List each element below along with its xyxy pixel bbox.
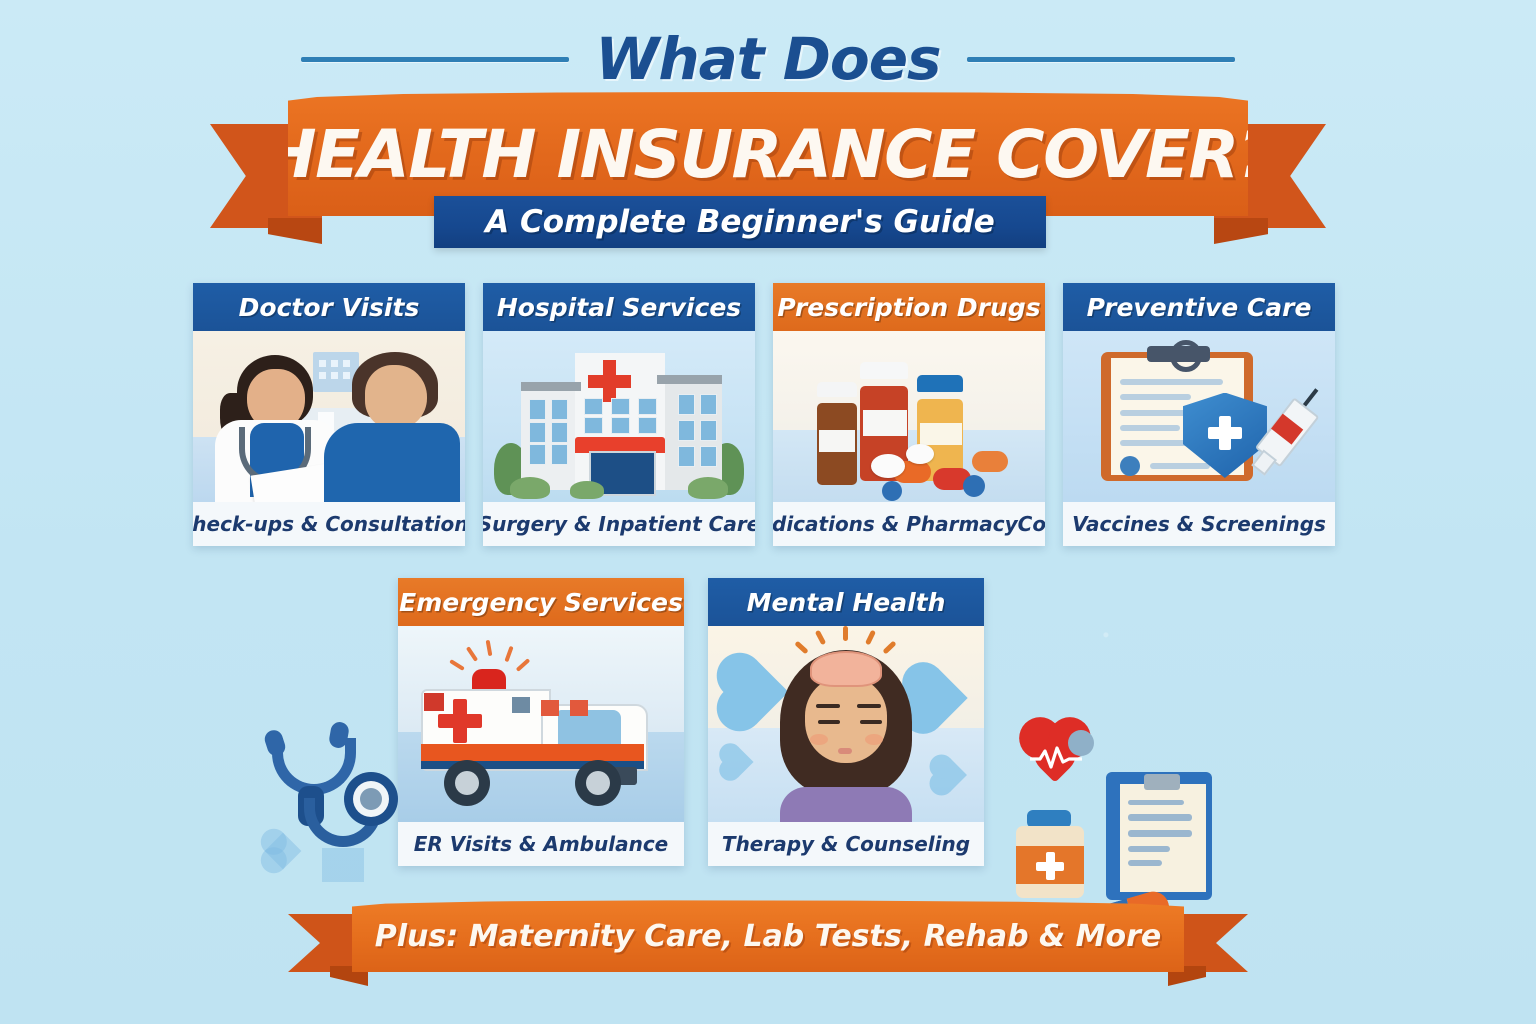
roof-icon (657, 375, 722, 384)
clipboard-clamp-icon (1147, 346, 1210, 361)
window-icon (700, 394, 717, 415)
text-line-icon (1128, 800, 1184, 805)
tablet-icon (871, 454, 905, 478)
cheek-blush-icon (810, 734, 828, 745)
doctor-and-patient-illustration (193, 331, 465, 502)
bush-icon (510, 477, 550, 499)
footer-banner: Plus: Maternity Care, Lab Tests, Rehab &… (0, 900, 1536, 996)
spark-icon (843, 626, 848, 641)
subtitle-band: A Complete Beginner's Guide (434, 196, 1046, 248)
card-title: Mental Health (747, 588, 946, 617)
card-title: Prescription Drugs (777, 293, 1040, 322)
window-icon (678, 420, 695, 441)
card-header: Preventive Care (1063, 283, 1335, 331)
header-eyebrow: What Does (595, 25, 940, 93)
closed-eye-icon (818, 720, 840, 724)
bush-icon (688, 477, 728, 499)
eyebrow-icon (816, 704, 840, 708)
card-hospital-services[interactable]: Hospital Services (483, 283, 755, 546)
clipboard-clamp-icon (1144, 774, 1180, 790)
siren-ray-icon (465, 646, 477, 662)
card-emergency-services[interactable]: Emergency Services ER Visits & Ambulance (398, 578, 684, 866)
cross-glyph-icon (1208, 416, 1242, 450)
card-caption: ER Visits & Ambulance (414, 832, 668, 856)
ambulance-illustration (398, 626, 684, 822)
card-doctor-visits[interactable]: Doctor Visits Check-ups & Consultations (193, 283, 465, 546)
roof-icon (521, 382, 581, 391)
siren-ray-icon (485, 639, 492, 655)
window-icon (529, 444, 546, 465)
card-caption: Vaccines & Screenings (1072, 512, 1326, 536)
medicine-bottle-icon (1014, 810, 1088, 902)
card-caption-bar: Surgery & Inpatient Care (483, 502, 755, 546)
window-icon (529, 422, 546, 443)
bottle-label-icon (863, 410, 907, 436)
card-prescription-drugs[interactable]: Prescription Drugs Medications & Pharmac… (773, 283, 1045, 546)
brain-icon (810, 651, 882, 686)
closed-eye-icon (860, 720, 882, 724)
card-caption-bar: Therapy & Counseling (708, 822, 984, 866)
capsule-pill-icon (972, 451, 1008, 472)
spark-icon (883, 640, 897, 654)
text-line-icon (1120, 394, 1191, 400)
card-header: Prescription Drugs (773, 283, 1045, 331)
text-line-icon (1120, 425, 1180, 431)
card-caption-bar: Check-ups & Consultations (193, 502, 465, 546)
rule-left-icon (301, 57, 569, 62)
patient-face-icon (365, 365, 427, 429)
hospital-building-illustration (483, 331, 755, 502)
footer-banner-text: Plus: Maternity Care, Lab Tests, Rehab &… (375, 919, 1162, 954)
window-icon (584, 398, 603, 415)
text-line-icon (1120, 379, 1223, 385)
stethoscope-bell-icon (344, 772, 398, 826)
card-header: Mental Health (708, 578, 984, 626)
bottle-cap-icon (860, 362, 908, 379)
heart-icon (933, 758, 967, 792)
spark-icon (865, 630, 876, 646)
heart-icon (723, 660, 788, 725)
ribbon-fold-right-icon (1214, 218, 1268, 244)
bottle-label-icon (920, 423, 962, 445)
mouth-icon (838, 748, 852, 754)
spark-icon (815, 630, 826, 646)
woman-with-brain-and-hearts-illustration (708, 626, 984, 822)
card-caption: Check-ups & Consultations (193, 512, 465, 536)
cheek-blush-icon (865, 734, 883, 745)
window-icon (638, 398, 657, 415)
card-caption: Surgery & Inpatient Care (483, 512, 755, 536)
card-title: Doctor Visits (239, 293, 420, 322)
tablet-icon (906, 444, 934, 464)
header-eyebrow-row: What Does (0, 22, 1536, 96)
rule-right-icon (967, 57, 1235, 62)
ambulance-stripe-icon (421, 744, 644, 762)
card-title: Preventive Care (1087, 293, 1312, 322)
ambulance-window-icon (558, 710, 621, 743)
banner-body: Plus: Maternity Care, Lab Tests, Rehab &… (352, 900, 1184, 972)
window-icon (529, 399, 546, 420)
red-cross-icon (438, 699, 482, 743)
bullet-dot-icon (1120, 456, 1140, 476)
bush-icon (570, 481, 604, 499)
round-pill-icon (882, 481, 902, 501)
text-line-icon (1150, 463, 1210, 469)
marker-square-icon (512, 697, 530, 713)
window-icon (700, 446, 717, 467)
text-line-icon (1128, 830, 1192, 837)
window-icon (638, 417, 657, 434)
card-caption: Therapy & Counseling (722, 832, 970, 856)
ribbon-fold-left-icon (268, 218, 322, 244)
bullet-dot-icon (1068, 730, 1094, 756)
page-subtitle: A Complete Beginner's Guide (485, 204, 995, 240)
siren-ray-icon (516, 659, 531, 673)
window-icon (611, 417, 630, 434)
window-icon (700, 420, 717, 441)
card-caption-bar: Vaccines & Screenings (1063, 502, 1335, 546)
text-line-icon (1128, 860, 1162, 866)
shirt-icon (780, 787, 912, 822)
card-caption-bar: Medications & PharmacyCosts (773, 502, 1045, 546)
marker-square-icon (570, 700, 588, 716)
heart-icon (908, 668, 967, 727)
siren-ray-icon (504, 645, 513, 661)
round-pill-icon (963, 475, 985, 497)
marker-square-icon (424, 693, 444, 711)
card-header: Emergency Services (398, 578, 684, 626)
window-icon (611, 398, 630, 415)
window-icon (584, 417, 603, 434)
card-caption: Medications & PharmacyCosts (773, 512, 1045, 536)
card-caption-bar: ER Visits & Ambulance (398, 822, 684, 866)
window-icon (678, 394, 695, 415)
eyebrow-icon (857, 704, 881, 708)
cross-glyph-icon (1036, 852, 1064, 880)
heart-icon (723, 747, 754, 778)
siren-ray-icon (449, 659, 465, 671)
clipboard-shield-syringe-illustration (1063, 331, 1335, 502)
text-line-icon (1128, 846, 1170, 852)
text-line-icon (1128, 814, 1192, 821)
card-title: Hospital Services (497, 293, 741, 322)
wheel-icon (575, 760, 621, 806)
red-cross-icon (603, 360, 616, 402)
window-icon (551, 399, 568, 420)
bottle-label-icon (819, 430, 855, 452)
window-icon (678, 446, 695, 467)
patient-shirt-icon (324, 423, 460, 502)
bottle-cap-icon (817, 382, 857, 397)
window-icon (551, 444, 568, 465)
card-preventive-care[interactable]: Preventive Care Vaccines & Screenings (1063, 283, 1335, 546)
wheel-icon (444, 760, 490, 806)
window-icon (551, 422, 568, 443)
card-title: Emergency Services (399, 588, 683, 617)
pill-bottles-and-capsules-illustration (773, 331, 1045, 502)
bottle-cap-icon (917, 375, 963, 392)
decor-square-icon (322, 848, 364, 882)
marker-square-icon (541, 700, 559, 716)
spark-icon (794, 640, 808, 654)
syringe-icon (1239, 377, 1335, 491)
page-title: HEALTH INSURANCE COVER? (261, 116, 1274, 193)
card-header: Hospital Services (483, 283, 755, 331)
card-header: Doctor Visits (193, 283, 465, 331)
card-mental-health[interactable]: Mental Health (708, 578, 984, 866)
